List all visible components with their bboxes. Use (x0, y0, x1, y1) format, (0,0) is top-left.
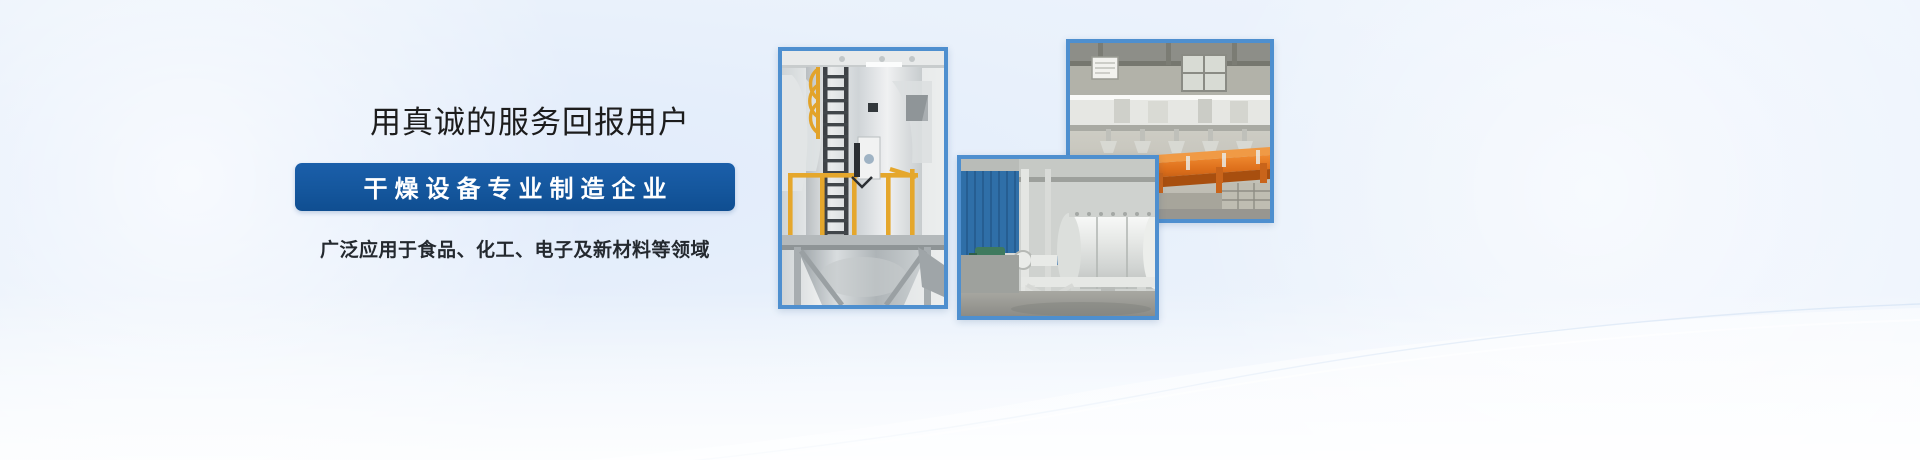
photo-spray-dryer-tower[interactable] (778, 47, 948, 309)
promo-banner: 用真诚的服务回报用户 干燥设备专业制造企业 广泛应用于食品、化工、电子及新材料等… (0, 0, 1920, 460)
banner-badge-label: 干燥设备专业制造企业 (357, 169, 674, 204)
photo-collage (0, 0, 1920, 460)
photo-ribbon-mixer-tank[interactable] (957, 155, 1159, 320)
banner-badge: 干燥设备专业制造企业 (295, 163, 735, 211)
banner-subtitle: 广泛应用于食品、化工、电子及新材料等领域 (295, 235, 735, 262)
spray-dryer-image (782, 51, 944, 305)
banner-headline: 用真诚的服务回报用户 (295, 105, 765, 141)
ribbon-mixer-image (961, 159, 1155, 316)
banner-copy: 用真诚的服务回报用户 干燥设备专业制造企业 广泛应用于食品、化工、电子及新材料等… (295, 105, 765, 262)
background-swoosh (0, 300, 1920, 460)
